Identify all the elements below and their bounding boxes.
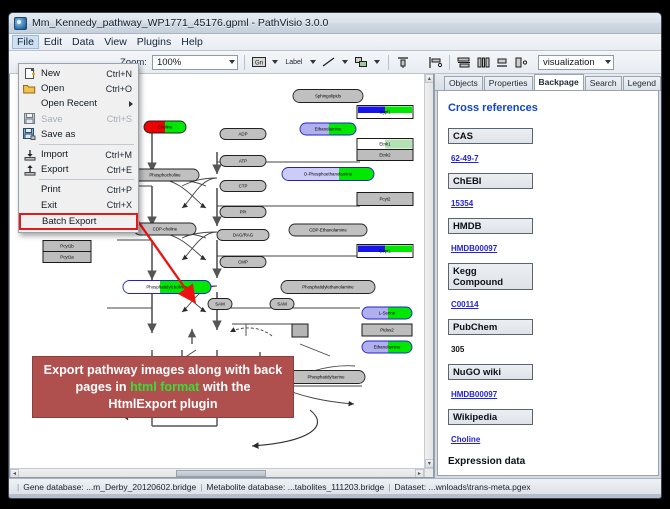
file-menu-item-exit[interactable]: ExitCtrl+X xyxy=(19,198,138,213)
file-menu-label: Import xyxy=(38,149,105,160)
xref-source-pubchem: PubChem xyxy=(448,319,533,335)
xref-source-hmdb: HMDB xyxy=(448,218,533,234)
callout-line2-b: with the xyxy=(199,380,250,394)
pathway-node-phosphatidylcholines[interactable]: Phosphatidylcholines xyxy=(123,281,211,294)
scroll-right-arrow[interactable]: ▸ xyxy=(415,469,424,478)
tab-backpage[interactable]: Backpage xyxy=(534,74,584,90)
node-label: ADP xyxy=(238,132,247,137)
pathway-node-sam-left[interactable]: SAM xyxy=(208,299,232,310)
node-label: CTP xyxy=(239,184,248,189)
file-menu-label: Print xyxy=(38,184,107,195)
scrollbar-thumb[interactable] xyxy=(176,470,266,477)
status-divider-1: | xyxy=(200,482,202,492)
pathway-node-phosphatidylserine[interactable]: Phosphatidylserine xyxy=(287,371,365,384)
line-dropdown-icon[interactable] xyxy=(342,60,348,64)
file-menu-label: Open Recent xyxy=(38,98,132,109)
file-menu-accelerator: Ctrl+P xyxy=(107,185,138,195)
status-metabolite-db-value: ...tabolites_111203.bridge xyxy=(288,482,385,492)
file-menu-accelerator: Ctrl+O xyxy=(106,84,138,94)
xref-source-chebi: ChEBI xyxy=(448,173,533,189)
submenu-arrow-icon xyxy=(129,101,133,107)
pathway-gene-sgpl1[interactable]: Sgpl1 xyxy=(357,106,413,119)
import-icon xyxy=(21,148,38,161)
status-bar: | Gene database: ...m_Derby_20120602.bri… xyxy=(9,478,661,494)
align-center-icon[interactable] xyxy=(456,54,472,70)
visualization-value: visualization xyxy=(543,57,595,68)
pathway-gene-cept1[interactable]: Cept1 xyxy=(357,245,413,258)
gene-label: Pcyt2 xyxy=(380,197,392,202)
xref-value-kegg[interactable]: C00114 xyxy=(451,300,479,309)
backpage-content: Cross references CAS 62-49-7 ChEBI 15354… xyxy=(437,91,659,476)
gene-label: Cept1 xyxy=(379,249,391,254)
sidebar-tabstrip: Objects Properties Backpage Search Legen… xyxy=(435,74,661,91)
file-menu-accelerator: Ctrl+N xyxy=(106,69,138,79)
scroll-down-arrow[interactable]: ▾ xyxy=(425,459,434,468)
tab-objects[interactable]: Objects xyxy=(444,76,483,90)
xref-source-nugo: NuGO wiki xyxy=(448,364,533,380)
gene-label: Etnk1 xyxy=(379,142,391,147)
gene-label: Ptdss2 xyxy=(380,328,394,333)
no-icon xyxy=(22,215,39,228)
menu-data[interactable]: Data xyxy=(67,35,99,49)
pathway-gene-pcyt2[interactable]: Pcyt2 xyxy=(357,193,413,206)
pathway-gene-ptdss2[interactable]: Ptdss2 xyxy=(362,324,412,336)
menu-separator xyxy=(39,179,134,180)
stack-icon[interactable] xyxy=(494,54,510,70)
xref-value-hmdb[interactable]: HMDB00097 xyxy=(451,244,497,253)
node-label: Phosphocholine xyxy=(149,173,181,178)
pathway-node-ctp[interactable]: CTP xyxy=(220,181,266,192)
datanode-dropdown-icon[interactable] xyxy=(272,60,278,64)
file-menu-label: Save xyxy=(38,114,107,125)
screenshot-root: Mm_Kennedy_pathway_WP1771_45176.gpml - P… xyxy=(0,0,670,509)
file-menu-item-export[interactable]: ExportCtrl+E xyxy=(19,162,138,177)
shape-tool-icon[interactable] xyxy=(353,54,369,70)
align-left-icon[interactable] xyxy=(427,54,443,70)
menu-separator xyxy=(39,144,134,145)
pathway-node-dag-rag[interactable]: DAG/RAG xyxy=(217,230,269,241)
pathvisio-icon xyxy=(14,17,27,30)
menu-help[interactable]: Help xyxy=(176,35,208,49)
chevron-down-icon xyxy=(605,60,611,64)
file-menu-accelerator: Ctrl+X xyxy=(107,200,138,210)
menu-bar: File Edit Data View Plugins Help xyxy=(9,34,661,51)
line-tool-icon[interactable] xyxy=(321,54,337,70)
annotation-callout: Export pathway images along with back pa… xyxy=(32,356,294,418)
file-menu-item-open[interactable]: OpenCtrl+O xyxy=(19,81,138,96)
node-label: Choline xyxy=(158,125,173,130)
file-menu-dropdown[interactable]: NewCtrl+NOpenCtrl+OOpen RecentSaveCtrl+S… xyxy=(18,63,139,233)
file-menu-label: New xyxy=(38,68,106,79)
title-bar: Mm_Kennedy_pathway_WP1771_45176.gpml - P… xyxy=(9,13,661,34)
menu-view[interactable]: View xyxy=(99,35,132,49)
file-menu-accelerator: Ctrl+E xyxy=(107,165,138,175)
pathway-connector-box[interactable] xyxy=(292,324,308,337)
node-label: Phosphatidylcholines xyxy=(146,285,188,290)
gene-label: Etnk2 xyxy=(379,153,391,158)
pathway-node-sphingolipids[interactable]: Sphingolipids xyxy=(293,90,363,103)
callout-line2-a: pages in xyxy=(76,380,131,394)
save-as-icon xyxy=(21,128,38,141)
xref-value-wikipedia[interactable]: Choline xyxy=(451,435,480,444)
gene-label: Sgpl1 xyxy=(379,110,391,115)
xref-value-chebi[interactable]: 15354 xyxy=(451,199,473,208)
status-dataset-label: Dataset: xyxy=(395,482,427,492)
file-menu-label: Open xyxy=(38,83,106,94)
status-gene-db-value: ...m_Derby_20120602.bridge xyxy=(86,482,196,492)
file-menu-item-print[interactable]: PrintCtrl+P xyxy=(19,182,138,197)
file-menu-item-import[interactable]: ImportCtrl+M xyxy=(19,147,138,162)
pathway-node-cdp-ethanolamine[interactable]: CDP-Ethanolamine xyxy=(289,224,367,236)
no-icon xyxy=(21,97,38,110)
file-menu-item-new[interactable]: NewCtrl+N xyxy=(19,66,138,81)
pathway-node-phosphocholine[interactable]: Phosphocholine xyxy=(131,169,199,181)
pathway-node-o-phosphoethanolamine[interactable]: O-Phosphoethanolamine xyxy=(282,168,374,181)
status-dataset-value: ...wnloads\trans-meta.pgex xyxy=(429,482,531,492)
right-sidebar: Objects Properties Backpage Search Legen… xyxy=(434,74,661,478)
node-label: DAG/RAG xyxy=(233,233,254,238)
file-menu-label: Batch Export xyxy=(39,216,131,227)
node-label: ATP xyxy=(239,159,247,164)
file-menu-item-save: SaveCtrl+S xyxy=(19,112,138,127)
toolbar-separator-2 xyxy=(388,55,389,70)
tab-search[interactable]: Search xyxy=(585,76,622,90)
pathway-gene-pcyt1a[interactable]: Pcyt1a xyxy=(43,252,91,263)
node-label: Phosphatidylserine xyxy=(307,375,345,380)
gene-label: Pcyt1a xyxy=(60,255,74,260)
node-label: SAM xyxy=(215,302,225,307)
menu-plugins[interactable]: Plugins xyxy=(132,35,176,49)
status-metabolite-db-label: Metabolite database: xyxy=(206,482,285,492)
node-label: O-Phosphoethanolamine xyxy=(304,172,353,177)
pathway-node-sam-right[interactable]: SAM xyxy=(270,299,294,310)
svg-text:Gn: Gn xyxy=(255,61,263,67)
pathway-gene-etnk2[interactable]: Etnk2 xyxy=(357,150,413,161)
node-label: L-Serine xyxy=(379,311,396,316)
cross-references-heading: Cross references xyxy=(448,102,648,114)
scroll-left-arrow[interactable]: ◂ xyxy=(10,469,19,478)
callout-highlight: html format xyxy=(130,380,199,394)
pathway-node-l-serine[interactable]: L-Serine xyxy=(362,307,412,319)
node-label: PPi xyxy=(240,210,247,215)
no-icon xyxy=(21,199,38,212)
scroll-up-arrow[interactable]: ▴ xyxy=(425,74,434,83)
scrollbar-corner xyxy=(424,468,433,477)
pathway-node-cdp-choline[interactable]: CDP-choline xyxy=(134,223,196,235)
application-window: Mm_Kennedy_pathway_WP1771_45176.gpml - P… xyxy=(8,12,662,499)
file-menu-label: Save as xyxy=(38,129,132,140)
node-label: SAM xyxy=(277,302,287,307)
export-icon xyxy=(21,163,38,176)
callout-line3: HtmlExport plugin xyxy=(108,397,217,411)
xref-source-wikipedia: Wikipedia xyxy=(448,409,533,425)
node-label: Sphingolipids xyxy=(315,94,342,99)
file-menu-item-save-as[interactable]: Save as xyxy=(19,127,138,142)
xref-source-cas: CAS xyxy=(448,128,533,144)
status-divider-0: | xyxy=(17,482,19,492)
pathway-node-atp[interactable]: ATP xyxy=(220,156,266,167)
file-menu-item-batch-export[interactable]: Batch Export xyxy=(20,214,137,229)
node-label: CDP-choline xyxy=(153,227,178,232)
label-tool-icon[interactable]: Label xyxy=(283,54,305,70)
node-label: Ethanolamine xyxy=(374,345,401,350)
file-menu-accelerator: Ctrl+S xyxy=(107,114,138,124)
xref-value-pubchem: 305 xyxy=(451,345,464,354)
toolbar-separator xyxy=(244,55,245,70)
toolbar-separator-3 xyxy=(449,55,450,70)
zoom-combobox[interactable]: 100% xyxy=(152,55,238,70)
menu-file[interactable]: File xyxy=(12,35,39,49)
pathway-node-cmp[interactable]: CMP xyxy=(220,257,266,268)
tab-legend[interactable]: Legend xyxy=(623,76,661,90)
node-label: Phosphatidylethanolamine xyxy=(302,285,354,290)
pathway-gene-pcyt1b[interactable]: Pcyt1b xyxy=(43,241,91,252)
status-gene-db-label: Gene database: xyxy=(23,482,84,492)
open-folder-icon xyxy=(21,82,38,95)
save-icon xyxy=(21,113,38,126)
tab-properties[interactable]: Properties xyxy=(484,76,533,90)
file-menu-label: Export xyxy=(38,164,107,175)
file-menu-accelerator: Ctrl+M xyxy=(105,150,138,160)
pathway-node-ethanolamine-top[interactable]: Ethanolamine xyxy=(300,123,356,135)
xref-source-kegg: Kegg Compound xyxy=(448,263,533,290)
xref-value-cas[interactable]: 62-49-7 xyxy=(451,154,479,163)
zoom-value: 100% xyxy=(157,57,181,68)
datanode-tool-icon[interactable]: Gn xyxy=(251,54,267,70)
canvas-horizontal-scrollbar[interactable]: ◂ ▸ xyxy=(10,468,424,477)
gene-label: Pcyt1b xyxy=(60,244,74,249)
callout-line1: Export pathway images along with back xyxy=(44,363,283,377)
chevron-down-icon xyxy=(229,60,235,64)
visualization-combobox[interactable]: visualization xyxy=(538,55,614,70)
pathway-node-phosphatidylethanolamine[interactable]: Phosphatidylethanolamine xyxy=(281,281,375,294)
no-icon xyxy=(21,183,38,196)
xref-value-nugo[interactable]: HMDB00097 xyxy=(451,390,497,399)
label-dropdown-icon[interactable] xyxy=(310,60,316,64)
pathway-node-ethanolamine-bottom[interactable]: Ethanolamine xyxy=(362,341,412,353)
status-divider-2: | xyxy=(388,482,390,492)
window-title: Mm_Kennedy_pathway_WP1771_45176.gpml - P… xyxy=(32,17,328,29)
group-icon[interactable] xyxy=(513,54,529,70)
canvas-vertical-scrollbar[interactable]: ▴ ▾ xyxy=(424,74,433,468)
file-menu-label: Exit xyxy=(38,200,107,211)
pathway-node-adp[interactable]: ADP xyxy=(220,129,266,140)
shape-dropdown-icon[interactable] xyxy=(374,60,380,64)
node-label: CMP xyxy=(238,260,248,265)
pathway-gene-etnk1[interactable]: Etnk1 xyxy=(357,139,413,150)
align-top-icon[interactable] xyxy=(395,54,411,70)
node-label: Ethanolamine xyxy=(315,127,342,132)
expression-data-heading: Expression data xyxy=(448,456,648,467)
pathway-node-ppi[interactable]: PPi xyxy=(220,207,266,218)
align-width-icon[interactable] xyxy=(475,54,491,70)
new-file-icon xyxy=(21,67,38,80)
node-label: CDP-Ethanolamine xyxy=(309,228,347,233)
file-menu-item-open-recent[interactable]: Open Recent xyxy=(19,96,138,111)
annotation-text: Export pathway images along with back pa… xyxy=(44,362,283,413)
menu-edit[interactable]: Edit xyxy=(39,35,67,49)
pathway-node-choline-top[interactable]: Choline xyxy=(144,121,186,133)
